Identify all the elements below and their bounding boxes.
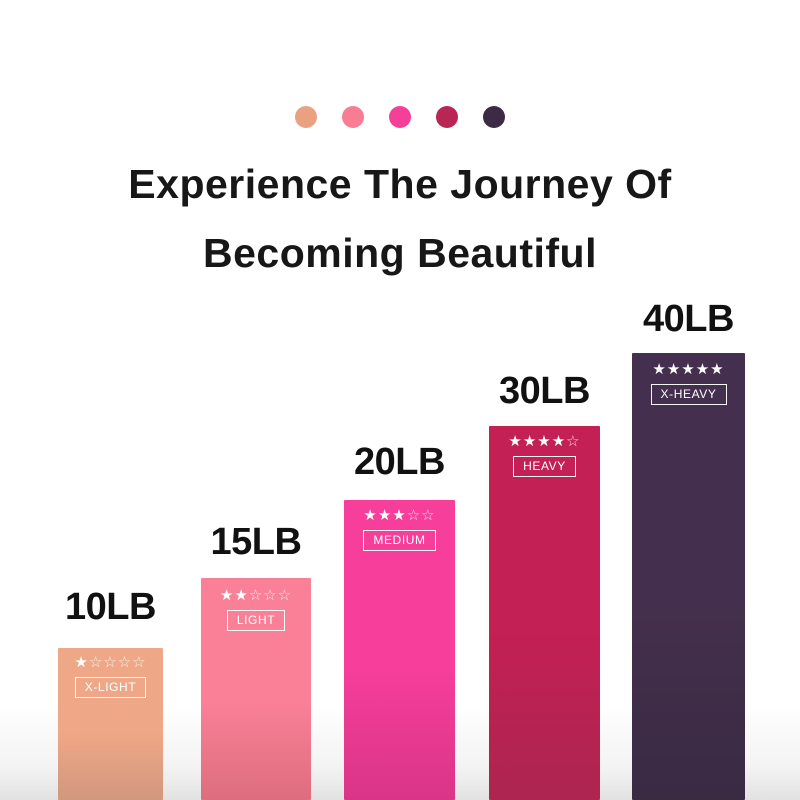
badge-heavy: ★★★★☆HEAVY [489, 434, 600, 477]
badge-x-heavy: ★★★★★X-HEAVY [632, 362, 745, 405]
poster-canvas: Experience The Journey Of Becoming Beaut… [0, 0, 800, 800]
star-filled-icon: ★ [652, 361, 666, 378]
weight-label-x-light: 10LB [65, 588, 156, 626]
star-outline-icon: ☆ [263, 587, 277, 604]
weight-label-light: 15LB [211, 523, 302, 561]
badge-x-light: ★☆☆☆☆X-LIGHT [58, 655, 163, 698]
star-filled-icon: ★ [523, 433, 537, 450]
badge-medium: ★★★☆☆MEDIUM [344, 508, 455, 551]
star-rating-medium: ★★★☆☆ [363, 508, 435, 523]
level-label-x-light: X-LIGHT [75, 677, 147, 698]
star-outline-icon: ☆ [118, 654, 132, 671]
star-outline-icon: ☆ [278, 587, 292, 604]
star-filled-icon: ★ [234, 587, 248, 604]
star-filled-icon: ★ [508, 433, 522, 450]
bar-heavy[interactable] [489, 426, 600, 800]
weight-label-medium: 20LB [354, 443, 445, 481]
star-filled-icon: ★ [537, 433, 551, 450]
star-outline-icon: ☆ [407, 507, 421, 524]
star-filled-icon: ★ [74, 654, 88, 671]
star-filled-icon: ★ [363, 507, 377, 524]
star-filled-icon: ★ [392, 507, 406, 524]
star-filled-icon: ★ [552, 433, 566, 450]
star-outline-icon: ☆ [249, 587, 263, 604]
star-outline-icon: ☆ [89, 654, 103, 671]
star-rating-x-heavy: ★★★★★ [652, 362, 724, 377]
level-label-x-heavy: X-HEAVY [651, 384, 727, 405]
star-outline-icon: ☆ [132, 654, 146, 671]
star-outline-icon: ☆ [103, 654, 117, 671]
badge-light: ★★☆☆☆LIGHT [201, 588, 311, 631]
star-filled-icon: ★ [667, 361, 681, 378]
resistance-band-bar-chart: 10LB★☆☆☆☆X-LIGHT15LB★★☆☆☆LIGHT20LB★★★☆☆M… [0, 0, 800, 800]
level-label-heavy: HEAVY [513, 456, 576, 477]
level-label-medium: MEDIUM [363, 530, 435, 551]
star-filled-icon: ★ [681, 361, 695, 378]
star-rating-x-light: ★☆☆☆☆ [74, 655, 146, 670]
star-filled-icon: ★ [378, 507, 392, 524]
level-label-light: LIGHT [227, 610, 285, 631]
bar-group-heavy[interactable] [489, 426, 600, 800]
weight-label-heavy: 30LB [499, 372, 590, 410]
star-rating-light: ★★☆☆☆ [220, 588, 292, 603]
star-outline-icon: ☆ [566, 433, 580, 450]
star-outline-icon: ☆ [421, 507, 435, 524]
bar-x-heavy[interactable] [632, 353, 745, 800]
star-rating-heavy: ★★★★☆ [508, 434, 580, 449]
bar-group-x-heavy[interactable] [632, 353, 745, 800]
star-filled-icon: ★ [696, 361, 710, 378]
star-filled-icon: ★ [220, 587, 234, 604]
weight-label-x-heavy: 40LB [643, 300, 734, 338]
star-filled-icon: ★ [710, 361, 724, 378]
